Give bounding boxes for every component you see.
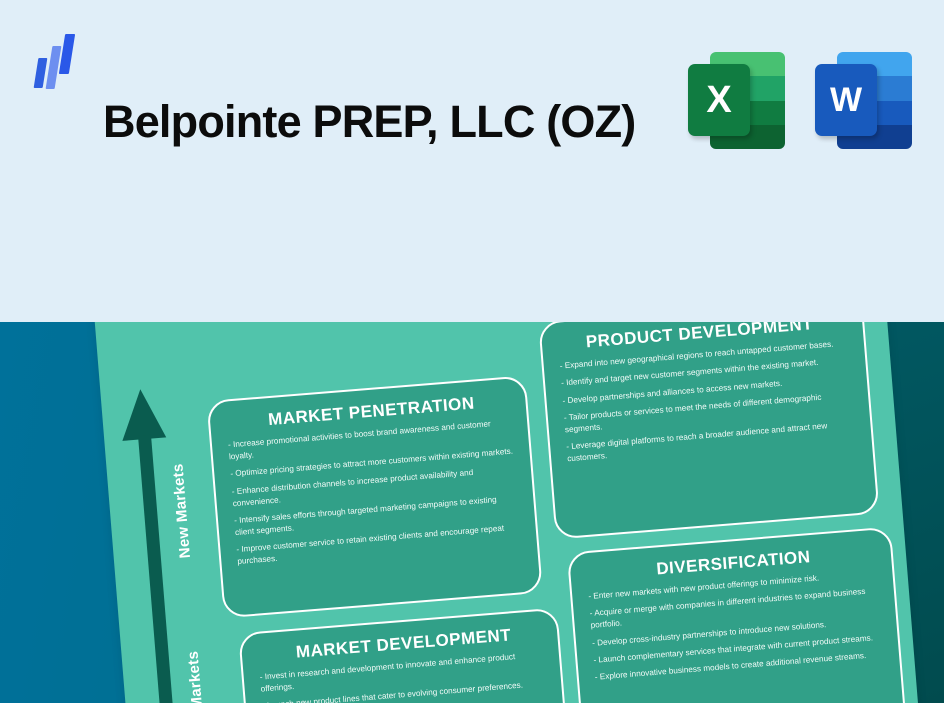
belpointe-logo-icon xyxy=(34,34,80,88)
axis-label-new-markets: New Markets xyxy=(169,463,194,559)
axis-label-existing-markets: Existing Markets xyxy=(184,650,211,703)
page-title: Belpointe PREP, LLC (OZ) xyxy=(103,95,723,150)
quadrant-bullet-list: - Enter new markets with new product off… xyxy=(588,568,884,684)
slide-canvas: ANSOFF MATRIX New Markets Existing Marke… xyxy=(0,0,944,703)
quadrant-market-development[interactable]: MARKET DEVELOPMENT - Invest in research … xyxy=(238,608,574,703)
logo-bar-3 xyxy=(59,34,75,74)
excel-icon-letter: X xyxy=(688,64,750,136)
quadrant-bullet-list: - Increase promotional activities to boo… xyxy=(228,417,521,568)
header-band: Belpointe PREP, LLC (OZ) X W xyxy=(0,0,944,322)
quadrant-market-penetration[interactable]: MARKET PENETRATION - Increase promotiona… xyxy=(206,375,542,618)
quadrant-diversification[interactable]: DIVERSIFICATION - Enter new markets with… xyxy=(567,527,908,703)
quadrant-product-development[interactable]: PRODUCT DEVELOPMENT - Expand into new ge… xyxy=(538,296,879,539)
word-icon[interactable]: W xyxy=(811,48,916,153)
excel-icon[interactable]: X xyxy=(684,48,789,153)
office-icon-group: X W xyxy=(684,48,916,153)
word-icon-letter: W xyxy=(815,64,877,136)
quadrant-bullet-list: - Expand into new geographical regions t… xyxy=(559,337,856,465)
arrow-head-icon xyxy=(118,388,166,441)
